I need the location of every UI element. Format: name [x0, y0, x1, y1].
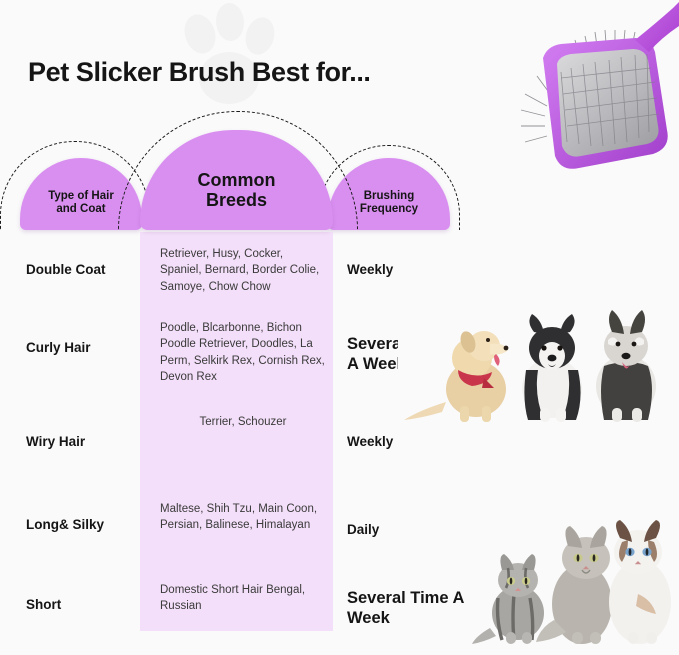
- row-type-of-hair: Short: [26, 597, 146, 612]
- row-type-of-hair: Double Coat: [26, 262, 146, 277]
- row-type-of-hair: Long& Silky: [26, 517, 146, 532]
- row-breeds: Domestic Short Hair Bengal, Russian: [160, 582, 326, 615]
- row-breeds: Retriever, Husy, Cocker, Spaniel, Bernar…: [160, 246, 326, 295]
- row-type-of-hair: Curly Hair: [26, 340, 146, 355]
- row-breeds: Terrier, Schouzer: [160, 414, 326, 430]
- page-title: Pet Slicker Brush Best for...: [28, 57, 371, 88]
- row-breeds: Poodle, Blcarbonne, Bichon Poodle Retrie…: [160, 320, 326, 385]
- header-arches: Type of Hair and Coat Brushing Frequency…: [0, 105, 470, 230]
- row-frequency: Several Time A Week: [347, 588, 472, 628]
- row-frequency: Daily: [347, 522, 472, 538]
- header-arch-center-line1: Common: [140, 170, 333, 190]
- table-row: Short Domestic Short Hair Bengal, Russia…: [0, 572, 470, 642]
- row-breeds: Maltese, Shih Tzu, Main Coon, Persian, B…: [160, 501, 326, 534]
- row-type-of-hair: Wiry Hair: [26, 434, 146, 449]
- slicker-brush-photo: [495, 2, 679, 177]
- infographic-canvas: Pet Slicker Brush Best for...: [0, 0, 679, 655]
- row-frequency: Weekly: [347, 434, 472, 450]
- header-arch-center-line2: Breeds: [140, 190, 333, 210]
- paw-print-watermark-icon: [172, 2, 292, 107]
- three-dogs-photo: [398, 284, 679, 424]
- row-frequency: Weekly: [347, 262, 472, 278]
- three-cats-photo: [470, 508, 679, 648]
- table-row: Long& Silky Maltese, Shih Tzu, Main Coon…: [0, 487, 470, 572]
- header-arch-label-center: Common Breeds: [140, 170, 333, 210]
